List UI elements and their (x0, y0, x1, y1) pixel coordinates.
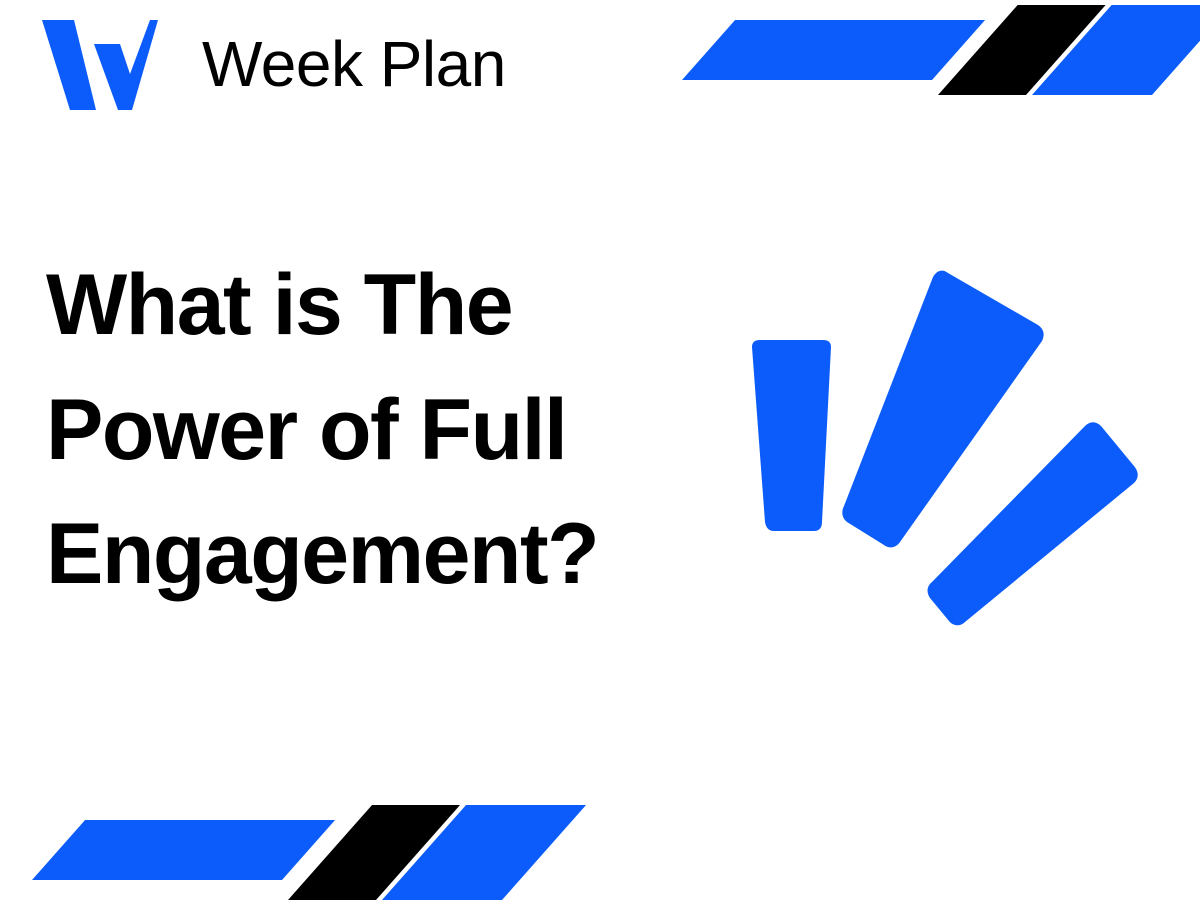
headline-line-1: What is The (46, 243, 746, 368)
cover-canvas: Week Plan What is The Power of Full Enga… (0, 0, 1200, 900)
headline-line-2: Power of Full (46, 368, 746, 493)
ribbon-slab-blue-long (682, 20, 985, 80)
parallelogram-ribbon-top-right (0, 0, 1200, 120)
ribbon-slab-blue-long (32, 820, 335, 880)
blade-upright-icon (752, 340, 831, 531)
parallelogram-ribbon-bottom-left (0, 780, 1200, 900)
brush-blade-cluster (730, 250, 1190, 650)
headline-line-3: Engagement? (46, 492, 746, 617)
page-title: What is The Power of Full Engagement? (46, 243, 746, 617)
